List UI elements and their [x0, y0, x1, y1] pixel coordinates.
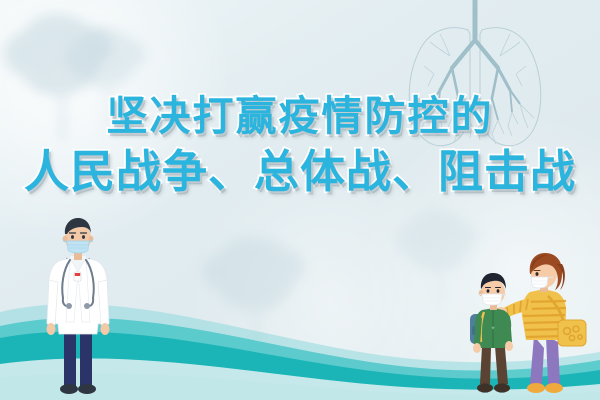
background-light-wash-center [180, 170, 480, 400]
tree-silhouette-icon [212, 236, 304, 356]
boy-leg-left [480, 346, 491, 384]
boy-leg-right [495, 346, 508, 384]
mother-leg-left [530, 336, 544, 384]
face-mask-icon [482, 294, 502, 305]
boy-eye-right [497, 289, 500, 293]
doctor-hand-right [101, 323, 110, 335]
headline-line-2: 人民战争、总体战、阻击战 [0, 149, 600, 194]
mother-eye [536, 272, 539, 276]
headline: 坚决打赢疫情防控的 人民战争、总体战、阻击战 [0, 96, 600, 194]
boy-eye-left [487, 289, 490, 293]
doctor-eye-right [82, 235, 85, 239]
doctor-hand-left [47, 323, 56, 335]
doctor-figure [36, 212, 120, 400]
doctor-eye-left [71, 235, 74, 239]
boy-shoe-left [477, 383, 493, 392]
tree-trunk [254, 300, 259, 354]
mother-shoe-left [527, 383, 545, 393]
stethoscope-chestpiece [66, 303, 72, 309]
tree-trunk [438, 262, 442, 306]
shoulder-bag-icon [558, 320, 586, 346]
tree-crown [16, 14, 102, 96]
boy-hand-left [473, 343, 481, 353]
face-mask-icon [67, 241, 89, 253]
doctor-shoe-left [60, 384, 78, 394]
tree-silhouette-icon [404, 210, 478, 310]
tree-crown [212, 236, 296, 312]
headline-line-1: 坚决打赢疫情防控的 [0, 96, 600, 137]
svg-text:✦: ✦ [490, 325, 495, 332]
boy-hand-right [505, 341, 513, 351]
poster-canvas: 坚决打赢疫情防控的 人民战争、总体战、阻击战 [0, 0, 600, 400]
family-figures: ✦ [468, 252, 600, 400]
mother-leg-right [546, 336, 560, 384]
face-mask-icon [531, 277, 548, 288]
doctor-shoe-right [78, 384, 96, 394]
mother-shoe-right [545, 383, 563, 393]
tree-crown [404, 210, 472, 272]
tree-crown [74, 28, 138, 88]
boy-shoe-right [494, 383, 510, 392]
